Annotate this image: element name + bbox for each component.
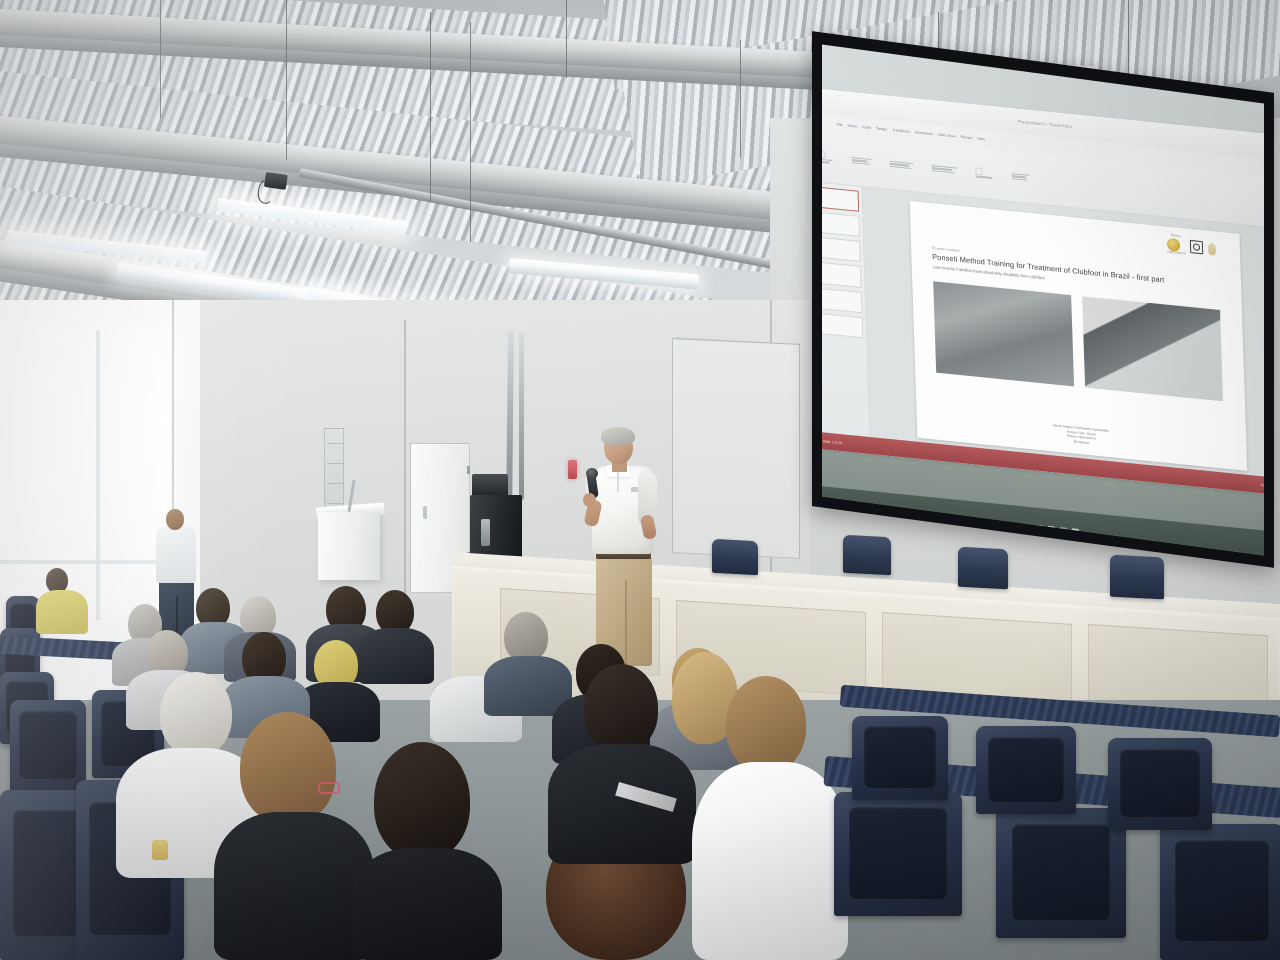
slide-thumbnail-6[interactable] bbox=[822, 312, 864, 338]
lectern bbox=[318, 512, 380, 580]
audience-head bbox=[504, 612, 548, 662]
hanger-rod-1 bbox=[160, 0, 161, 118]
wall-conduit-right-2 bbox=[519, 332, 524, 500]
ribbon-tab-animations[interactable]: Animations bbox=[915, 130, 933, 136]
audience-head bbox=[160, 672, 232, 756]
chair-cushion bbox=[1120, 749, 1199, 817]
chair-right-back-1[interactable] bbox=[852, 716, 948, 800]
audience-head bbox=[726, 676, 806, 772]
fire-alarm-call-point[interactable] bbox=[568, 460, 577, 479]
whiteboard bbox=[672, 338, 800, 559]
ribbon-tab-insert[interactable]: Insert bbox=[862, 125, 871, 130]
audience-head bbox=[240, 712, 336, 824]
hanger-rod-2 bbox=[286, 0, 287, 160]
chair-cushion bbox=[1175, 840, 1269, 941]
projected-desktop: Presentation1 - PowerPoint File Home Ins… bbox=[822, 63, 1264, 555]
chair-cushion bbox=[988, 737, 1064, 802]
projection-screen: Presentation1 - PowerPoint File Home Ins… bbox=[812, 31, 1274, 568]
speaker-left-hand bbox=[583, 493, 596, 507]
water-bottle bbox=[481, 519, 490, 546]
ribbon-tab-review[interactable]: Review bbox=[961, 135, 973, 140]
photo-scene: Presentation1 - PowerPoint File Home Ins… bbox=[0, 0, 1280, 960]
rotary-logo-block: Rotary International bbox=[1167, 233, 1186, 256]
speaker-hair bbox=[601, 427, 635, 445]
flame-logo-icon bbox=[1209, 242, 1217, 255]
ribbon-tab-transitions[interactable]: Transitions bbox=[893, 128, 911, 134]
browser-icon[interactable] bbox=[988, 519, 995, 527]
window-daylight bbox=[0, 325, 175, 615]
hanger-rod-3 bbox=[430, 12, 431, 202]
chair-right-3[interactable] bbox=[1160, 824, 1280, 960]
chair-right-back-3[interactable] bbox=[1108, 738, 1212, 830]
search-icon[interactable] bbox=[952, 516, 959, 524]
chair-right-2[interactable] bbox=[996, 808, 1126, 938]
ribbon-group-paragraph[interactable] bbox=[932, 164, 958, 173]
rotary-logo-sublabel: International bbox=[1167, 250, 1186, 256]
clubfoot-photo-left bbox=[933, 280, 1074, 385]
window-mullion-vertical bbox=[96, 330, 100, 620]
standing-attendee-shirt bbox=[156, 527, 196, 583]
ponseti-logo-icon bbox=[1191, 240, 1204, 254]
hanger-rod-6 bbox=[740, 40, 741, 158]
settings-icon[interactable] bbox=[1060, 526, 1067, 534]
powerpoint-title: Presentation1 - PowerPoint bbox=[1018, 118, 1072, 128]
door-hinge-top bbox=[467, 466, 470, 474]
ribbon-tab-file[interactable]: File bbox=[837, 122, 843, 127]
chair-cushion bbox=[849, 807, 946, 899]
ribbon-tab-slideshow[interactable]: Slide Show bbox=[938, 132, 956, 138]
audience-head bbox=[584, 664, 658, 752]
audience-shoulders bbox=[214, 812, 374, 960]
slide-thumbnail-5[interactable] bbox=[822, 287, 863, 313]
stage-chair-2[interactable] bbox=[843, 535, 891, 576]
folder-icon[interactable] bbox=[1072, 528, 1079, 536]
ribbon-tab-design[interactable]: Design bbox=[876, 126, 887, 131]
chair-right-back-2[interactable] bbox=[976, 726, 1076, 814]
window-mullion-horizontal bbox=[0, 560, 175, 564]
audience-glasses-icon bbox=[318, 782, 340, 794]
standing-attendee-head bbox=[166, 509, 184, 530]
powerpoint-icon[interactable] bbox=[1012, 522, 1019, 530]
audience-shoulders bbox=[358, 628, 434, 684]
slide-canvas[interactable]: Rotary International Ponseti method bbox=[910, 200, 1248, 470]
audience-shoulders bbox=[36, 590, 88, 634]
ribbon-group-drawing[interactable] bbox=[976, 167, 993, 178]
stage-chair-1[interactable] bbox=[712, 539, 758, 575]
slide-thumbnail-3[interactable] bbox=[822, 236, 861, 262]
chair-cushion bbox=[1012, 824, 1111, 920]
start-icon[interactable] bbox=[940, 514, 947, 522]
task-view-icon[interactable] bbox=[964, 517, 971, 525]
audience-shirt-logo bbox=[152, 840, 168, 860]
store-icon[interactable] bbox=[1048, 525, 1055, 533]
speaker-shirt-placket bbox=[617, 470, 619, 492]
chair-cushion bbox=[864, 726, 937, 788]
ponseti-logo-inner bbox=[1194, 243, 1201, 251]
slide-logo-row: Rotary International bbox=[1167, 233, 1217, 259]
hanger-rod-5 bbox=[566, 0, 567, 78]
chair-cushion bbox=[19, 711, 77, 779]
powerpoint-window[interactable]: Presentation1 - PowerPoint File Home Ins… bbox=[822, 87, 1264, 496]
mail-icon[interactable] bbox=[1000, 520, 1007, 528]
ribbon-tab-view[interactable]: View bbox=[978, 136, 986, 141]
slide-thumbnail-4[interactable] bbox=[822, 261, 862, 287]
slide-counter: Slide 1 of 24 bbox=[823, 438, 842, 444]
chair-mid-1[interactable] bbox=[10, 700, 86, 792]
word-icon[interactable] bbox=[1024, 523, 1031, 531]
shapes-icon[interactable] bbox=[976, 167, 983, 175]
language-indicator[interactable]: Portuguese (Brazil) bbox=[1261, 482, 1264, 489]
speaker-leg-seam bbox=[625, 580, 627, 666]
clubfoot-photo-right bbox=[1083, 295, 1224, 400]
ribbon-tab-home[interactable]: Home bbox=[848, 123, 858, 128]
media-icon[interactable] bbox=[1036, 524, 1043, 532]
hanger-rod-4 bbox=[470, 22, 471, 242]
audience-shoulders bbox=[352, 848, 502, 960]
paste-icon[interactable] bbox=[822, 150, 826, 158]
ribbon-group-font[interactable] bbox=[890, 160, 914, 169]
chair-right-1[interactable] bbox=[834, 792, 962, 916]
audience-shoulders bbox=[692, 762, 848, 960]
ribbon-group-clipboard[interactable] bbox=[822, 150, 833, 163]
wall-corner-seam-2 bbox=[404, 320, 406, 620]
explorer-icon[interactable] bbox=[976, 518, 983, 526]
audience-head bbox=[374, 742, 470, 860]
slide-photo-row bbox=[933, 280, 1223, 400]
ribbon-group-slides[interactable] bbox=[851, 156, 871, 164]
slide-thumbnail-1[interactable] bbox=[822, 185, 860, 211]
microphone-head bbox=[586, 468, 598, 479]
ribbon-group-editing[interactable] bbox=[1011, 172, 1029, 180]
stage-chair-3[interactable] bbox=[958, 547, 1008, 590]
door-handle[interactable] bbox=[423, 506, 427, 519]
projection-screen-surface: Presentation1 - PowerPoint File Home Ins… bbox=[822, 45, 1264, 556]
speaker-shirt-logo bbox=[631, 487, 638, 492]
slide-thumbnail-2[interactable] bbox=[822, 211, 860, 237]
stage-chair-4[interactable] bbox=[1110, 555, 1164, 600]
